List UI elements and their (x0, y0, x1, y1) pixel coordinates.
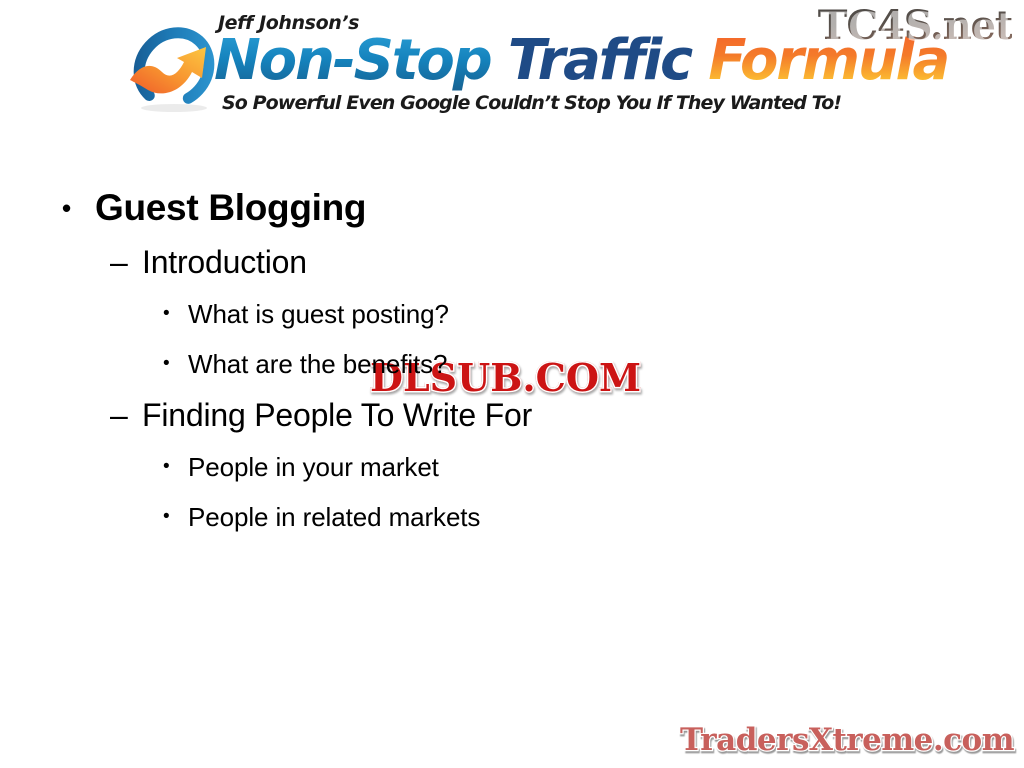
bullet-marker-icon: • (163, 339, 188, 389)
outline-item-level-2: –Introduction (0, 236, 1024, 289)
brand-tagline: So Powerful Even Google Couldn’t Stop Yo… (222, 92, 841, 114)
brand-title-space-1 (491, 28, 508, 93)
brand-word-traffic: Traffic (508, 28, 691, 93)
brand-word-nonstop: Non-Stop (214, 28, 491, 93)
dash-marker-icon: – (110, 236, 142, 289)
outline-item-level-1: •Guest Blogging (0, 180, 1024, 236)
bullet-marker-icon: • (163, 442, 188, 492)
bullet-marker-icon: • (62, 180, 95, 236)
outline-item-level-3: • What are the benefits? (0, 339, 1024, 389)
brand-header: Jeff Johnson’s Non-Stop Traffic Formula … (118, 4, 888, 124)
outline-item-label: Finding People To Write For (142, 389, 532, 442)
outline-item-label: Guest Blogging (95, 180, 366, 236)
outline-item-level-3: •People in your market (0, 442, 1024, 492)
brand-title-space-2 (691, 28, 708, 93)
outline-item-label: What are the benefits? (188, 339, 447, 389)
outline-item-label: People in your market (188, 442, 439, 492)
outline-item-label: Introduction (142, 236, 307, 289)
outline-item-label: People in related markets (188, 492, 480, 542)
watermark-tc4s: TC4S.net (818, 2, 1012, 49)
dash-marker-icon: – (110, 389, 142, 442)
swoosh-arrow-logo-icon (122, 22, 226, 114)
outline-item-level-3: •What is guest posting? (0, 289, 1024, 339)
slide-content-outline: •Guest Blogging–Introduction•What is gue… (0, 180, 1024, 542)
bullet-marker-icon: • (163, 492, 188, 542)
outline-item-label: What is guest posting? (188, 289, 449, 339)
outline-item-level-3: •People in related markets (0, 492, 1024, 542)
bullet-marker-icon: • (163, 289, 188, 339)
outline-item-level-2: –Finding People To Write For (0, 389, 1024, 442)
watermark-tradersxtreme: TradersXtreme.com (680, 722, 1014, 758)
